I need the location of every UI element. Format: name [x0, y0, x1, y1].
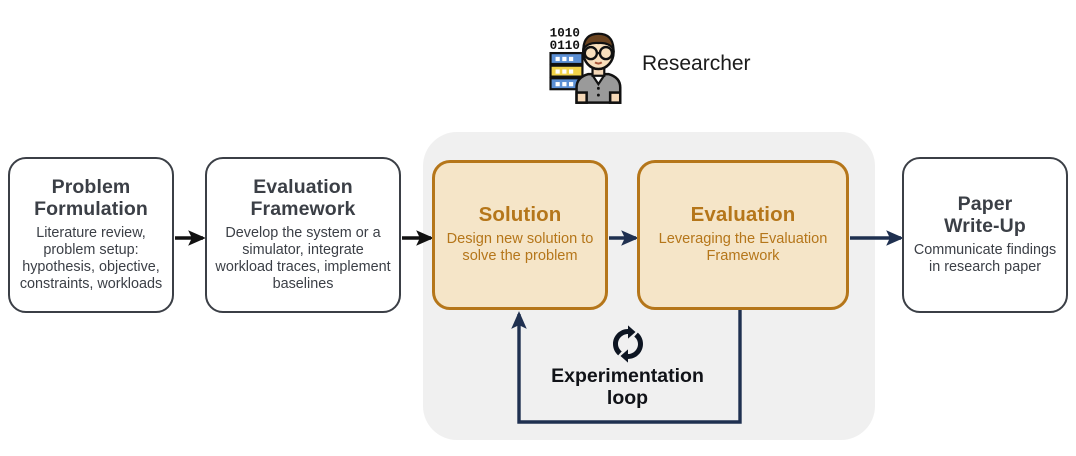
- svg-text:0110: 0110: [550, 39, 580, 53]
- node-description: Communicate findings in research paper: [910, 242, 1060, 276]
- node-description: Design new solution to solve the problem: [441, 231, 599, 265]
- loop-label: Experimentation loop: [545, 366, 710, 410]
- refresh-cycle-icon: [608, 324, 648, 364]
- node-title: Evaluation Framework: [251, 177, 356, 221]
- researcher-group: 1010 0110: [548, 22, 751, 106]
- node-solution[interactable]: Solution Design new solution to solve th…: [432, 160, 608, 310]
- node-title: Paper Write-Up: [944, 194, 1026, 238]
- node-evaluation[interactable]: Evaluation Leveraging the Evaluation Fra…: [637, 160, 849, 310]
- technologist-icon: 1010 0110: [548, 22, 632, 106]
- node-paper-write-up[interactable]: Paper Write-Up Communicate findings in r…: [902, 157, 1068, 313]
- node-title: Solution: [479, 204, 562, 227]
- diagram-canvas: Problem Formulation Literature review, p…: [0, 0, 1076, 456]
- experimentation-loop-caption: Experimentation loop: [545, 324, 710, 410]
- node-evaluation-framework[interactable]: Evaluation Framework Develop the system …: [205, 157, 401, 313]
- node-title: Problem Formulation: [34, 177, 148, 221]
- node-description: Develop the system or a simulator, integ…: [213, 225, 393, 293]
- node-description: Literature review, problem setup: hypoth…: [16, 225, 166, 293]
- node-description: Leveraging the Evaluation Framework: [646, 231, 840, 265]
- node-problem-formulation[interactable]: Problem Formulation Literature review, p…: [8, 157, 174, 313]
- researcher-label: Researcher: [642, 52, 751, 76]
- node-title: Evaluation: [691, 204, 796, 227]
